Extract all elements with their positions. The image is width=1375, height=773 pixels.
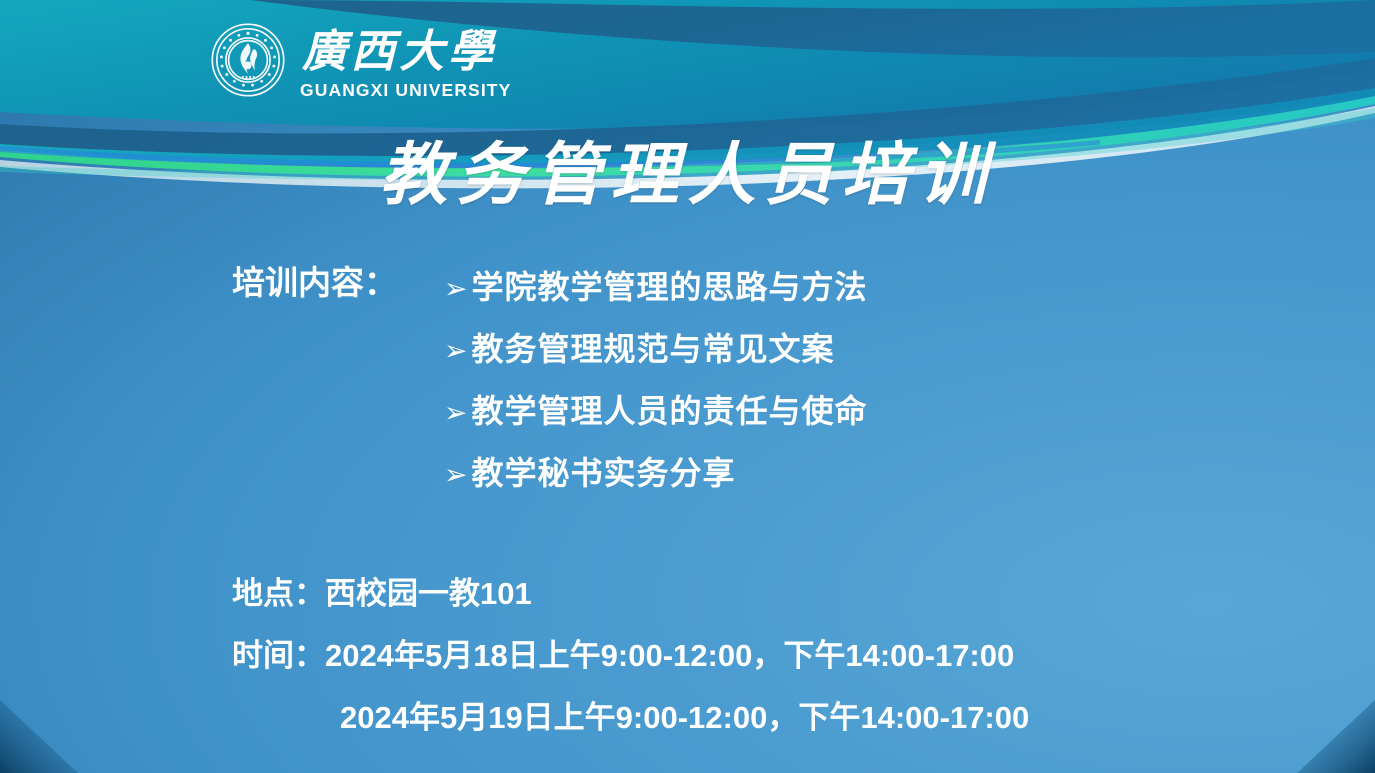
corner-shape-bottom-right [1297,700,1375,773]
list-item-label: 学院教学管理的思路与方法 [471,262,867,308]
bullet-arrow-icon: ➢ [444,337,467,365]
training-content-section: 培训内容： ➢ 学院教学管理的思路与方法 ➢ 教务管理规范与常见文案 ➢ 教学管… [232,262,867,324]
list-item-label: 教学管理人员的责任与使命 [471,386,867,432]
list-item: ➢ 教学管理人员的责任与使命 [444,386,867,448]
event-details-section: 地点：西校园一教101 时间：2024年5月18日上午9:00-12:00，下午… [232,562,1029,748]
guangxi-university-seal-icon [210,22,286,98]
bullet-arrow-icon: ➢ [444,461,467,489]
training-topic-list: ➢ 学院教学管理的思路与方法 ➢ 教务管理规范与常见文案 ➢ 教学管理人员的责任… [444,262,867,510]
university-logo: 廣西大學 GUANGXI UNIVERSITY [210,20,511,100]
wave-cyan-upper [0,0,1375,129]
training-content-label: 培训内容： [232,262,444,303]
event-place: 地点：西校园一教101 [232,562,1029,624]
list-item: ➢ 教学秘书实务分享 [444,448,867,510]
bullet-arrow-icon: ➢ [444,275,467,303]
list-item: ➢ 学院教学管理的思路与方法 [444,262,867,324]
slide-title: 教务管理人员培训 [0,140,1375,211]
presentation-slide: 廣西大學 GUANGXI UNIVERSITY 教务管理人员培训 培训内容： ➢… [0,0,1375,773]
corner-shape-bottom-left [0,700,78,773]
list-item: ➢ 教务管理规范与常见文案 [444,324,867,386]
university-name-en: GUANGXI UNIVERSITY [300,82,511,100]
university-name-cn-mark: 廣西大學 [302,22,509,80]
list-item-label: 教学秘书实务分享 [471,448,735,494]
event-time-line-1: 时间：2024年5月18日上午9:00-12:00，下午14:00-17:00 [232,624,1029,686]
bullet-arrow-icon: ➢ [444,399,467,427]
svg-text:廣西大學: 廣西大學 [302,25,497,78]
list-item-label: 教务管理规范与常见文案 [471,324,834,370]
event-time-line-2: 2024年5月19日上午9:00-12:00，下午14:00-17:00 [232,686,1029,748]
